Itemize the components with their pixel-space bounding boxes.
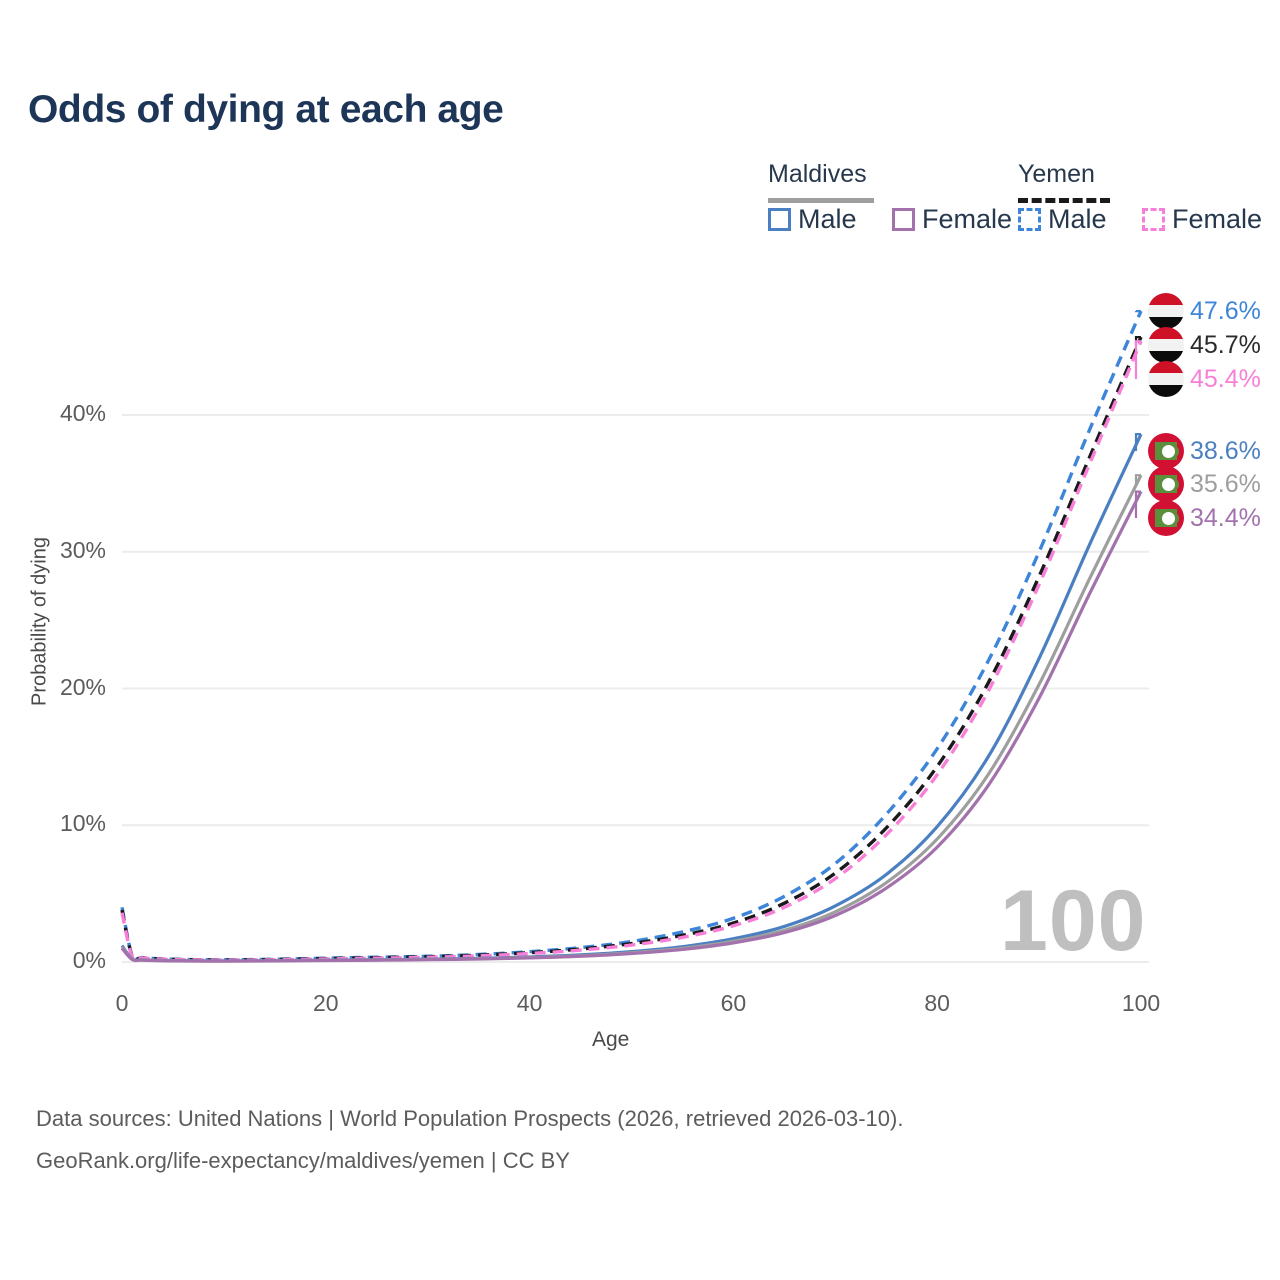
gridlines — [122, 415, 1149, 962]
x-tick-80: 80 — [897, 990, 977, 1017]
chart-container: Odds of dying at each age Maldives Yemen… — [0, 0, 1280, 1280]
flag-band-red — [1148, 361, 1184, 373]
plot-svg — [0, 0, 1280, 1280]
flag-band-white — [1148, 305, 1184, 317]
series-line-yemen-total — [122, 337, 1141, 960]
flag-icon-yemen — [1148, 293, 1184, 329]
end-label-maldives-female: 34.4% — [1148, 500, 1261, 536]
plot-area — [0, 0, 1280, 1280]
y-tick-10%: 10% — [26, 810, 106, 837]
flag-band-red — [1148, 293, 1184, 305]
x-tick-100: 100 — [1101, 990, 1181, 1017]
end-label-yemen-total: 45.7% — [1148, 327, 1261, 363]
end-label-yemen-female: 45.4% — [1148, 361, 1261, 397]
footer-data-sources: Data sources: United Nations | World Pop… — [36, 1106, 903, 1132]
end-value-yemen-female: 45.4% — [1190, 367, 1261, 392]
flag-icon-yemen — [1148, 361, 1184, 397]
series-lines — [122, 311, 1141, 961]
y-tick-0%: 0% — [26, 947, 106, 974]
x-tick-60: 60 — [693, 990, 773, 1017]
flag-icon-maldives — [1148, 500, 1184, 536]
end-value-yemen-male: 47.6% — [1190, 299, 1261, 324]
x-axis-title: Age — [592, 1028, 629, 1052]
flag-band-red — [1148, 327, 1184, 339]
x-tick-0: 0 — [82, 990, 162, 1017]
y-axis-title: Probability of dying — [29, 512, 52, 732]
end-value-yemen-total: 45.7% — [1190, 333, 1261, 358]
series-line-yemen-male — [122, 311, 1141, 960]
series-line-yemen-female — [122, 341, 1141, 960]
watermark-age-100: 100 — [1000, 872, 1147, 971]
flag-icon-maldives — [1148, 433, 1184, 469]
end-value-maldives-female: 34.4% — [1190, 506, 1261, 531]
flag-band-white — [1148, 339, 1184, 351]
flag-icon-yemen — [1148, 327, 1184, 363]
end-value-maldives-male: 38.6% — [1190, 439, 1261, 464]
end-label-maldives-male: 38.6% — [1148, 433, 1261, 469]
flag-icon-maldives — [1148, 466, 1184, 502]
x-tick-20: 20 — [286, 990, 366, 1017]
y-tick-40%: 40% — [26, 400, 106, 427]
series-line-maldives-total — [122, 475, 1141, 961]
flag-band-black — [1148, 385, 1184, 397]
connector-yemen-female — [1136, 341, 1141, 379]
footer-attribution: GeoRank.org/life-expectancy/maldives/yem… — [36, 1148, 570, 1174]
end-label-yemen-male: 47.6% — [1148, 293, 1261, 329]
x-tick-40: 40 — [490, 990, 570, 1017]
flag-band-white — [1148, 373, 1184, 385]
series-line-maldives-female — [122, 492, 1141, 962]
series-line-maldives-male — [122, 434, 1141, 961]
end-value-maldives-total: 35.6% — [1190, 472, 1261, 497]
end-label-maldives-total: 35.6% — [1148, 466, 1261, 502]
